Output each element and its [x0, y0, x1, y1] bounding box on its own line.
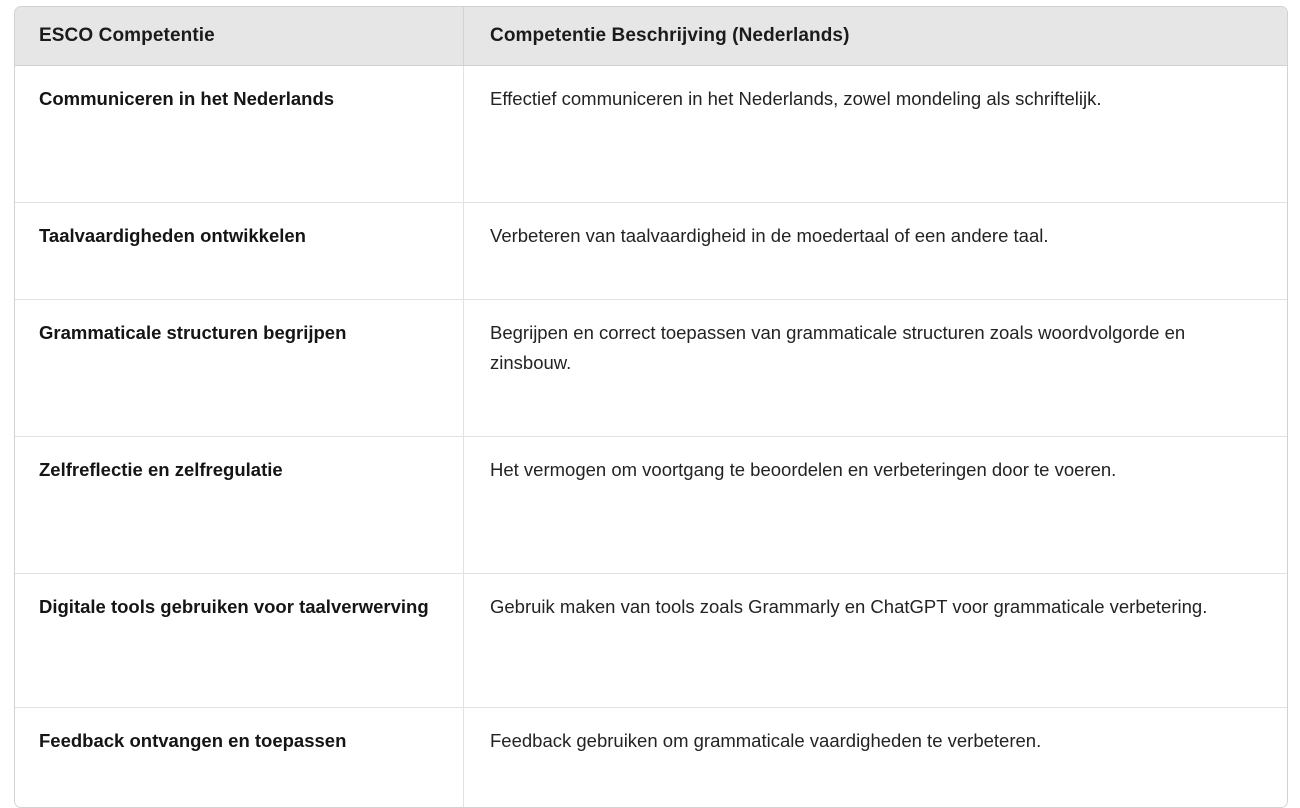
table-header-row: ESCO Competentie Competentie Beschrijvin…: [15, 7, 1287, 66]
cell-description: Effectief communiceren in het Nederlands…: [463, 66, 1287, 203]
table-row: Feedback ontvangen en toepassen Feedback…: [15, 708, 1287, 807]
cell-skill: Grammaticale structuren begrijpen: [15, 300, 463, 437]
cell-skill: Zelfreflectie en zelfregulatie: [15, 437, 463, 574]
cell-description: Het vermogen om voortgang te beoordelen …: [463, 437, 1287, 574]
competency-table-container: ESCO Competentie Competentie Beschrijvin…: [14, 6, 1286, 808]
cell-description: Feedback gebruiken om grammaticale vaard…: [463, 708, 1287, 807]
cell-skill: Feedback ontvangen en toepassen: [15, 708, 463, 807]
table-row: Zelfreflectie en zelfregulatie Het vermo…: [15, 437, 1287, 574]
cell-skill: Taalvaardigheden ontwikkelen: [15, 203, 463, 300]
column-header-competentie-beschrijving: Competentie Beschrijving (Nederlands): [463, 7, 1287, 66]
cell-description: Begrijpen en correct toepassen van gramm…: [463, 300, 1287, 437]
cell-description: Gebruik maken van tools zoals Grammarly …: [463, 574, 1287, 708]
table-row: Communiceren in het Nederlands Effectief…: [15, 66, 1287, 203]
cell-skill: Communiceren in het Nederlands: [15, 66, 463, 203]
cell-description: Verbeteren van taalvaardigheid in de moe…: [463, 203, 1287, 300]
table-header: ESCO Competentie Competentie Beschrijvin…: [15, 7, 1287, 66]
table-row: Grammaticale structuren begrijpen Begrij…: [15, 300, 1287, 437]
table-body: Communiceren in het Nederlands Effectief…: [15, 66, 1287, 807]
column-header-esco-competentie: ESCO Competentie: [15, 7, 463, 66]
cell-skill: Digitale tools gebruiken voor taalverwer…: [15, 574, 463, 708]
table-row: Digitale tools gebruiken voor taalverwer…: [15, 574, 1287, 708]
esco-competency-table: ESCO Competentie Competentie Beschrijvin…: [14, 6, 1288, 808]
table-row: Taalvaardigheden ontwikkelen Verbeteren …: [15, 203, 1287, 300]
